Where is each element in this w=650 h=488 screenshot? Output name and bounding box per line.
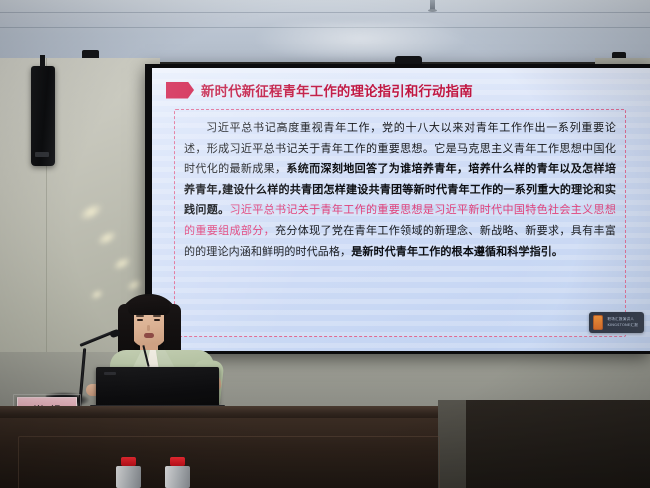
wall-speaker	[31, 66, 55, 166]
hair-fringe	[128, 296, 170, 315]
watermark-line-2: KINGSTONE汇报	[607, 323, 638, 328]
title-arrow-tag-icon	[166, 82, 194, 99]
slide-watermark: 职场汇报演讲人 KINGSTONE汇报	[589, 312, 644, 333]
water-bottle	[116, 458, 141, 488]
mouth	[144, 333, 154, 338]
podium-panel	[18, 436, 440, 488]
slide-title-row: 新时代新征程青年工作的理论指引和行动指南	[166, 80, 473, 100]
laptop-logo	[104, 372, 116, 375]
bottle-cap	[170, 457, 185, 466]
podium-right-block	[466, 400, 650, 488]
photo-scene: 新时代新征程青年工作的理论指引和行动指南 习近平总书记高度重视青年工作，党的十八…	[0, 0, 650, 488]
bottle-cap	[121, 457, 136, 466]
speaker-brand-badge	[35, 152, 49, 157]
bottle-body	[116, 466, 141, 488]
presentation-slide: 新时代新征程青年工作的理论指引和行动指南 习近平总书记高度重视青年工作，党的十八…	[152, 68, 650, 351]
water-bottle	[165, 458, 190, 488]
ceiling-seam-1	[0, 12, 650, 13]
podium-side-gap	[438, 400, 468, 488]
watermark-text: 职场汇报演讲人 KINGSTONE汇报	[607, 317, 638, 327]
slide-body-box: 习近平总书记高度重视青年工作，党的十八大以来对青年工作作出一系列重要论述，形成习…	[174, 109, 626, 337]
watermark-icon	[593, 315, 603, 330]
slide-title: 新时代新征程青年工作的理论指引和行动指南	[201, 80, 473, 100]
nose	[147, 325, 150, 331]
slide-seg-4: 是新时代青年工作的根本遵循和科学指引。	[351, 245, 563, 258]
bottle-body	[165, 466, 190, 488]
laptop	[96, 367, 219, 410]
sprinkler-icon	[430, 0, 435, 11]
ceiling-light-glow	[250, 22, 470, 64]
slide-body-text: 习近平总书记高度重视青年工作，党的十八大以来对青年工作作出一系列重要论述，形成习…	[184, 118, 616, 262]
watermark-line-1: 职场汇报演讲人	[607, 317, 638, 322]
eyebrow-left	[136, 315, 144, 317]
eyebrow-right	[153, 315, 161, 317]
